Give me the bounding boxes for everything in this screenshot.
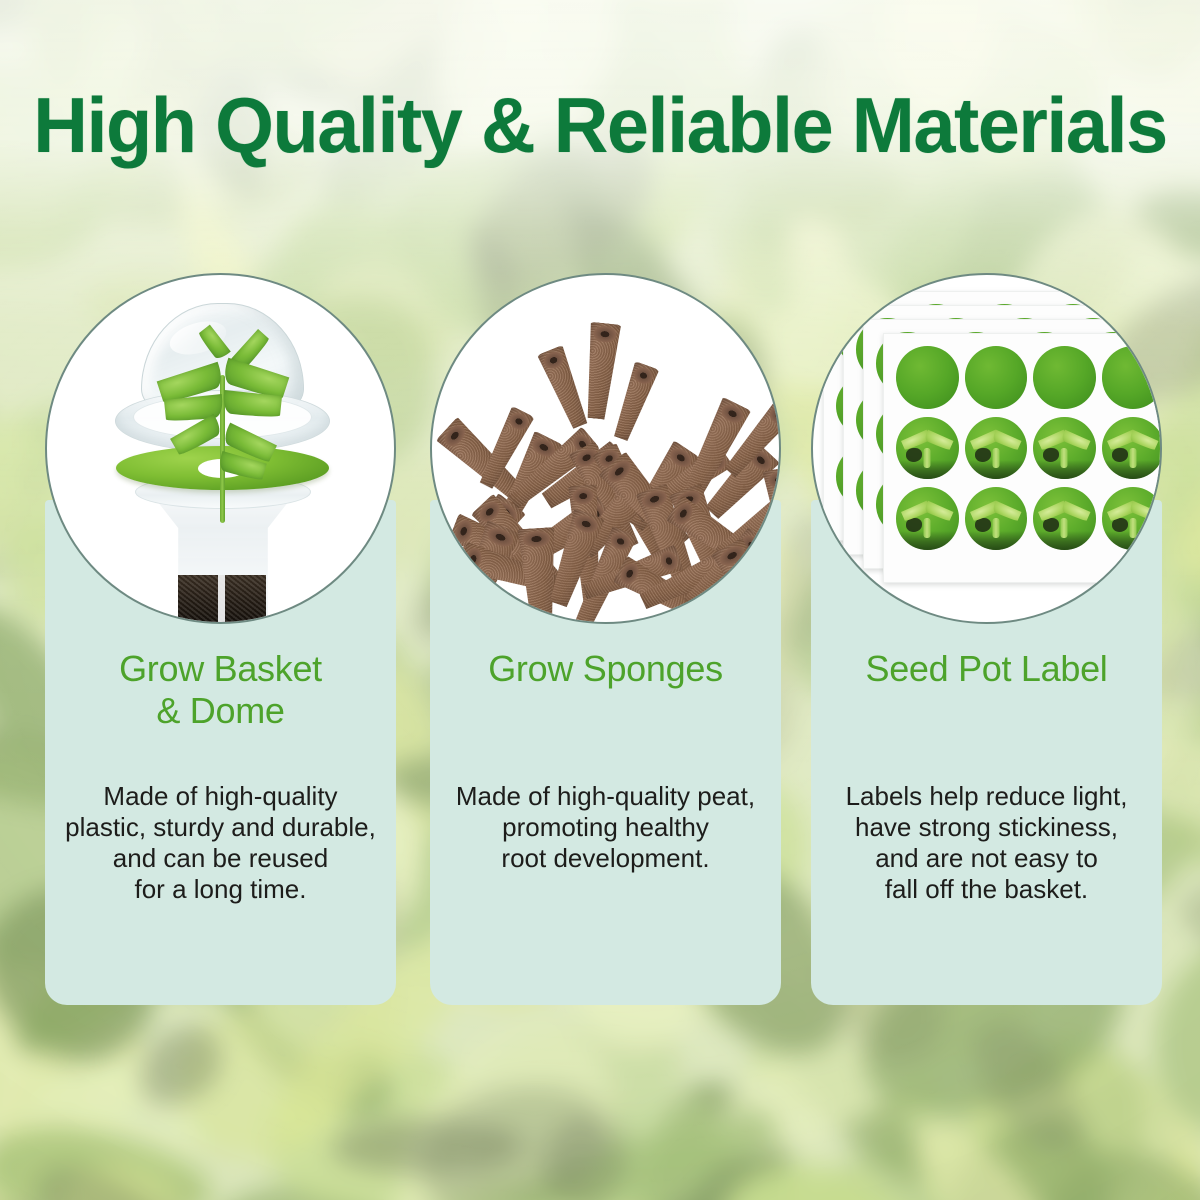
peat-sponge-plug-icon xyxy=(534,344,596,433)
peat-sponge-pile-illustration xyxy=(432,275,779,622)
soil-split-icon xyxy=(218,575,225,624)
seedling-sticker-icon xyxy=(896,346,959,409)
peat-sponge-plug-icon xyxy=(606,360,663,444)
seedling-sticker-icon xyxy=(1102,487,1163,550)
seedling-sticker-icon xyxy=(965,417,1028,480)
sticker-sprout-stem-icon xyxy=(992,518,999,538)
card-heading: Grow Sponges xyxy=(438,648,773,690)
sticker-seed-icon xyxy=(906,448,922,462)
grow-basket-dome-illustration xyxy=(47,275,394,622)
card-heading: Seed Pot Label xyxy=(819,648,1154,690)
sticker-sprout-stem-icon xyxy=(924,518,931,538)
seedling-sticker-icon xyxy=(1033,417,1096,480)
peat-sponge-plug-icon xyxy=(577,321,625,420)
product-image-grow-basket-dome xyxy=(45,273,396,624)
product-image-grow-sponges xyxy=(430,273,781,624)
page-title: High Quality & Reliable Materials xyxy=(18,84,1182,166)
seedling-sticker-icon xyxy=(896,487,959,550)
seedling-sticker-icon xyxy=(1033,346,1096,409)
sticker-seed-icon xyxy=(1112,518,1128,532)
sticker-sprout-stem-icon xyxy=(1061,448,1068,468)
feature-card-grow-basket-dome[interactable]: Grow Basket & Dome Made of high-quality … xyxy=(45,273,396,1005)
seedling-sticker-icon xyxy=(896,417,959,480)
sticker-seed-icon xyxy=(975,448,991,462)
sticker-sprout-stem-icon xyxy=(1129,448,1136,468)
sticker-seed-icon xyxy=(1043,448,1059,462)
sticker-seed-icon xyxy=(1112,448,1128,462)
sticker-sprout-stem-icon xyxy=(992,448,999,468)
sticker-sprout-stem-icon xyxy=(924,448,931,468)
card-heading: Grow Basket & Dome xyxy=(53,648,388,732)
seedling-sticker-icon xyxy=(1033,487,1096,550)
sticker-sprout-stem-icon xyxy=(1129,518,1136,538)
label-sticker-sheets-illustration xyxy=(813,275,1160,622)
card-description: Made of high-quality peat, promoting hea… xyxy=(440,781,771,874)
seedling-sticker-icon xyxy=(965,346,1028,409)
sticker-sheet xyxy=(883,333,1162,583)
sticker-sprout-stem-icon xyxy=(1061,518,1068,538)
seedling-sticker-icon xyxy=(1102,417,1163,480)
card-description: Made of high-quality plastic, sturdy and… xyxy=(55,781,386,905)
card-description: Labels help reduce light, have strong st… xyxy=(821,781,1152,905)
feature-card-grow-sponges[interactable]: Grow Sponges Made of high-quality peat, … xyxy=(430,273,781,1005)
seedling-sticker-icon xyxy=(1102,346,1163,409)
product-image-seed-pot-label xyxy=(811,273,1162,624)
feature-card-row: Grow Basket & Dome Made of high-quality … xyxy=(45,273,1157,1005)
sticker-seed-icon xyxy=(975,518,991,532)
seedling-sticker-icon xyxy=(965,487,1028,550)
feature-card-seed-pot-label[interactable]: Seed Pot Label Labels help reduce light,… xyxy=(811,273,1162,1005)
